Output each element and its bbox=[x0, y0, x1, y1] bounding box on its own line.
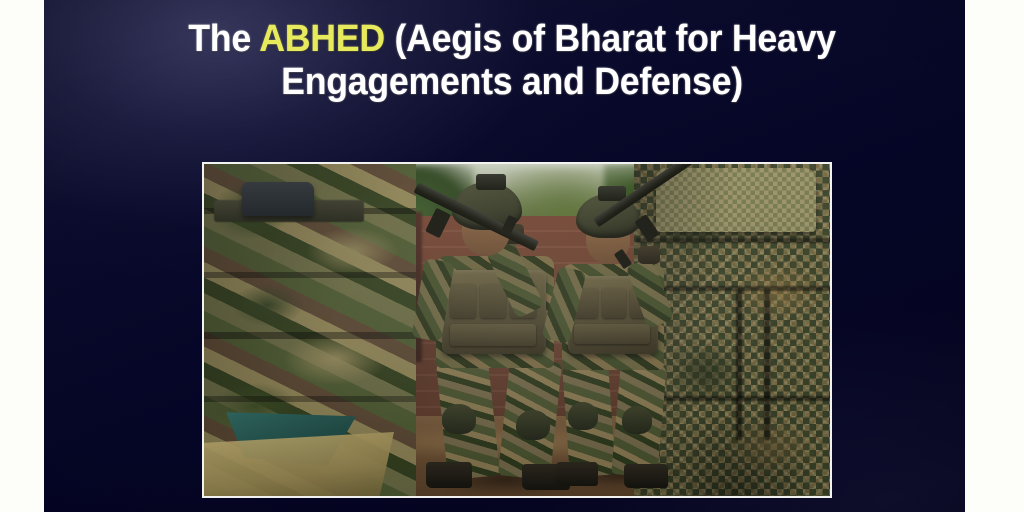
soldier-left-kneepad-right bbox=[516, 410, 550, 440]
title-accent-abhed: ABHED bbox=[259, 18, 385, 60]
soldier-left-belt-pouch bbox=[450, 324, 536, 346]
slide-root: The ABHED (Aegis of Bharat for Heavy Eng… bbox=[0, 0, 1024, 512]
page-margin-left bbox=[0, 0, 44, 512]
gear-folded-tan-item bbox=[204, 432, 394, 496]
soldier-right-kneepad-left bbox=[568, 402, 598, 430]
page-title: The ABHED (Aegis of Bharat for Heavy Eng… bbox=[31, 18, 994, 105]
hero-photo bbox=[204, 164, 830, 496]
title-prefix: The bbox=[188, 18, 259, 60]
soldier-right-glove bbox=[638, 246, 660, 264]
soldier-left-boot-left bbox=[426, 462, 472, 488]
soldier-right-boot-left bbox=[556, 462, 598, 486]
soldier-left-nvg-mount bbox=[476, 174, 506, 190]
hero-photo-frame bbox=[202, 162, 832, 498]
title-suffix: (Aegis of Bharat for Heavy bbox=[385, 18, 836, 60]
title-line-1: The ABHED (Aegis of Bharat for Heavy bbox=[74, 18, 950, 61]
soldier-right-mag-pouch-2 bbox=[602, 288, 626, 318]
soldier-left-mag-pouch-2 bbox=[480, 284, 506, 318]
title-line-2: Engagements and Defense) bbox=[74, 61, 950, 104]
soldier-left-mag-pouch-1 bbox=[450, 284, 476, 318]
soldier-right-kneepad-right bbox=[622, 406, 652, 434]
gear-pouch-dark bbox=[242, 182, 314, 216]
soldier-right-belt-pouch bbox=[574, 324, 650, 344]
soldier-right-boot-right bbox=[624, 464, 668, 488]
page-margin-right bbox=[965, 0, 1024, 512]
soldier-left-kneepad-left bbox=[442, 404, 476, 434]
